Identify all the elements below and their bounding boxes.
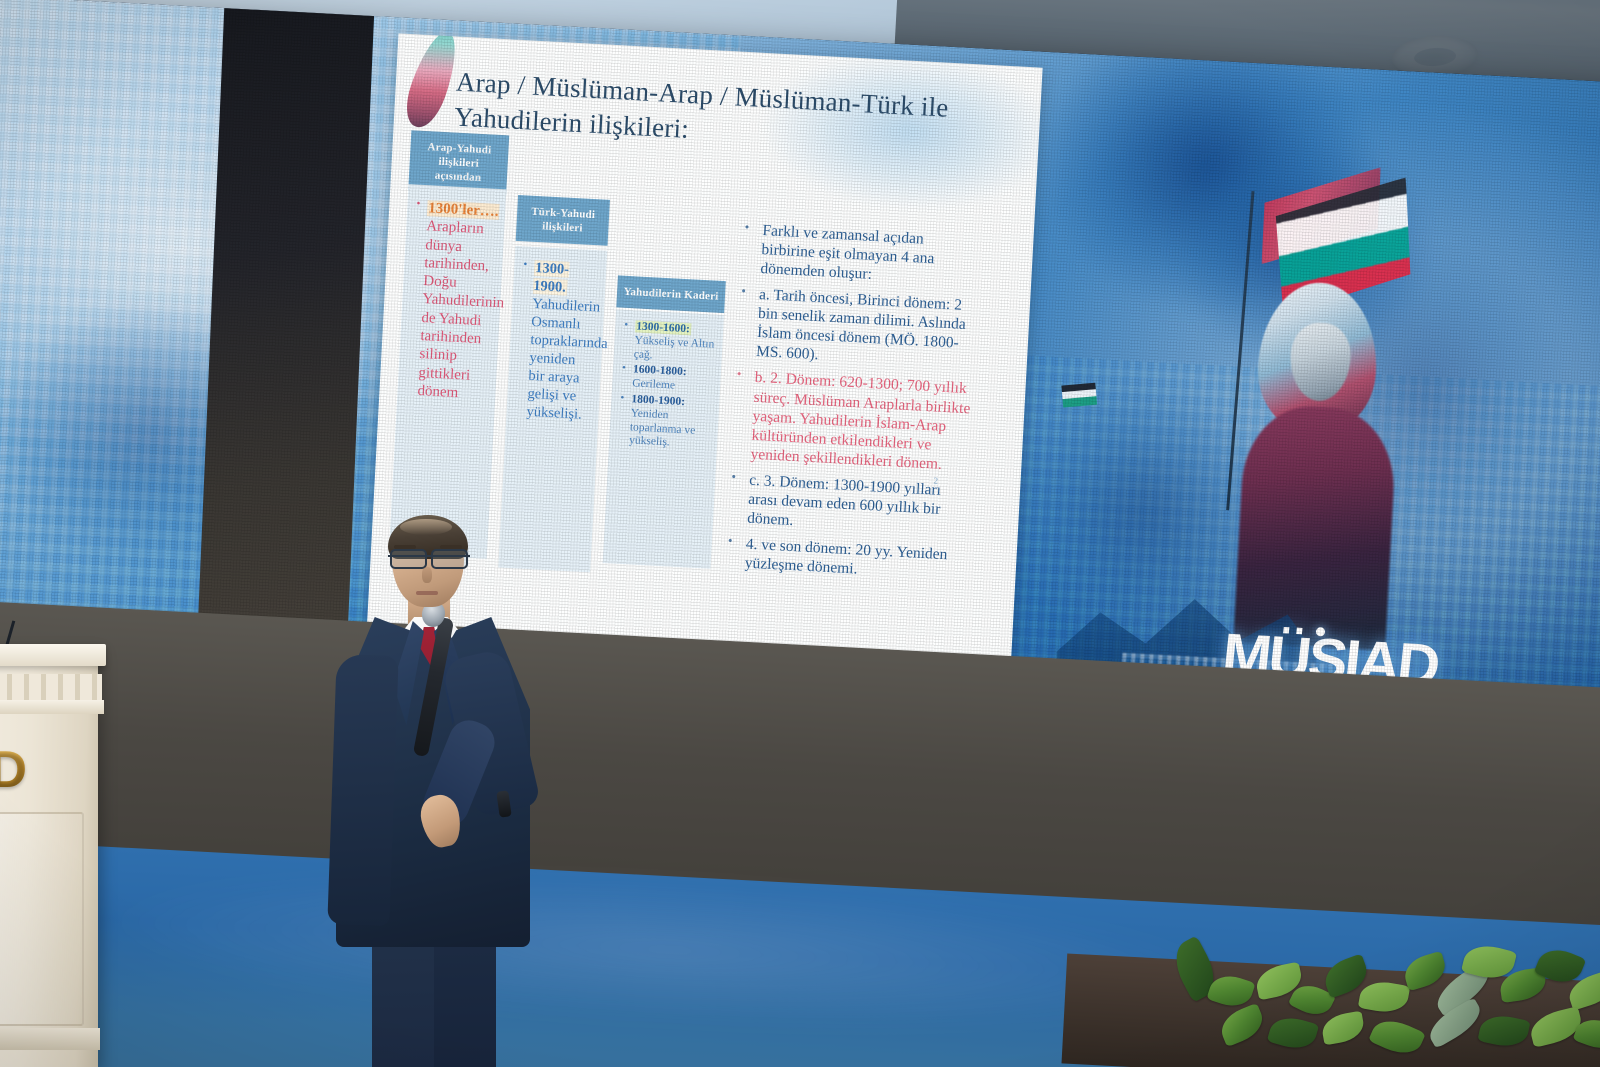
column-3-item: 1600-1800: Gerileme bbox=[621, 363, 714, 395]
speaker-nose bbox=[422, 567, 432, 583]
column-3-range-2: 1800-1900: bbox=[631, 393, 685, 408]
right-bullet-1: a. Tarih öncesi, Birinci dönem: 2 bin se… bbox=[734, 284, 978, 373]
eyeglasses-bridge bbox=[388, 555, 470, 557]
column-3-range-1: 1600-1800: bbox=[633, 364, 687, 379]
palestine-artwork: MÜSIAD bbox=[1032, 53, 1600, 762]
leaf bbox=[1320, 1011, 1366, 1046]
leaf bbox=[1267, 1012, 1319, 1054]
slide-page-number: 2 bbox=[933, 475, 938, 485]
column-3-body: 1300-1600: Yükseliş ve Altın çağ. 1600-1… bbox=[603, 309, 724, 568]
speaker-mouth bbox=[416, 591, 438, 595]
right-bullet-0: Farklı ve zamansal açıdan birbirine eşit… bbox=[738, 220, 981, 290]
column-2-highlight: 1300-1900. bbox=[533, 260, 570, 296]
leaf bbox=[1477, 1011, 1530, 1050]
column-2-text: Yahudilerin Osmanlı topraklarında yenide… bbox=[526, 296, 608, 423]
speaker-arm-left bbox=[327, 654, 398, 926]
screenshot-root: MÜSIAD Arap / Müslüman-Arap / Müslüman-T… bbox=[0, 0, 1600, 1067]
column-3-item: 1300-1600: Yükseliş ve Altın çağ. bbox=[622, 320, 716, 366]
speaker-person bbox=[330, 505, 540, 1030]
small-flag-icon bbox=[1061, 383, 1097, 408]
podium-dentil-trim bbox=[0, 674, 102, 700]
foliage-decoration bbox=[1060, 952, 1600, 1067]
column-2-header: Türk-Yahudi ilişkileri bbox=[516, 195, 610, 246]
leaf bbox=[1216, 1003, 1268, 1047]
column-3-range-0: 1300-1600: bbox=[635, 320, 691, 335]
podium-base bbox=[0, 1028, 100, 1050]
girl-body bbox=[1233, 403, 1398, 651]
column-3-text-0: Yükseliş ve Altın çağ. bbox=[633, 334, 714, 361]
leaf bbox=[1368, 1013, 1426, 1061]
column-1-body: 1300'ler…. Arapların dünya tarihinden, D… bbox=[389, 184, 507, 559]
podium-top-surface bbox=[0, 644, 106, 666]
leaf bbox=[1358, 978, 1410, 1016]
column-3-text-1: Gerileme bbox=[632, 378, 675, 392]
slide-right-bullets: Farklı ve zamansal açıdan birbirine eşit… bbox=[722, 220, 981, 591]
column-3-text-2: Yeniden toparlanma ve yükseliş. bbox=[629, 407, 696, 449]
right-bullet-3: c. 3. Dönem: 1300-1900 yılları arası dev… bbox=[725, 469, 968, 539]
column-3-header: Yahudilerin Kaderi bbox=[616, 275, 726, 313]
column-1-highlight: 1300'ler…. bbox=[427, 200, 500, 220]
column-1-text: Arapların dünya tarihinden, Doğu Yahudil… bbox=[417, 218, 504, 401]
speaker-eyeglasses-icon bbox=[388, 549, 470, 566]
podium-cap-trim bbox=[0, 700, 104, 714]
right-bullet-4: 4. ve son dönem: 20 yy. Yeniden yüzleşme… bbox=[722, 533, 964, 584]
column-3-item: 1800-1900: Yeniden toparlanma ve yükseli… bbox=[618, 393, 713, 453]
leaf bbox=[1401, 951, 1450, 991]
podium-front-panel bbox=[0, 812, 84, 1026]
podium-logo-text: AD bbox=[0, 740, 25, 800]
right-bullet-2: b. 2. Dönem: 620-1300; 700 yıllık süreç.… bbox=[728, 367, 973, 475]
